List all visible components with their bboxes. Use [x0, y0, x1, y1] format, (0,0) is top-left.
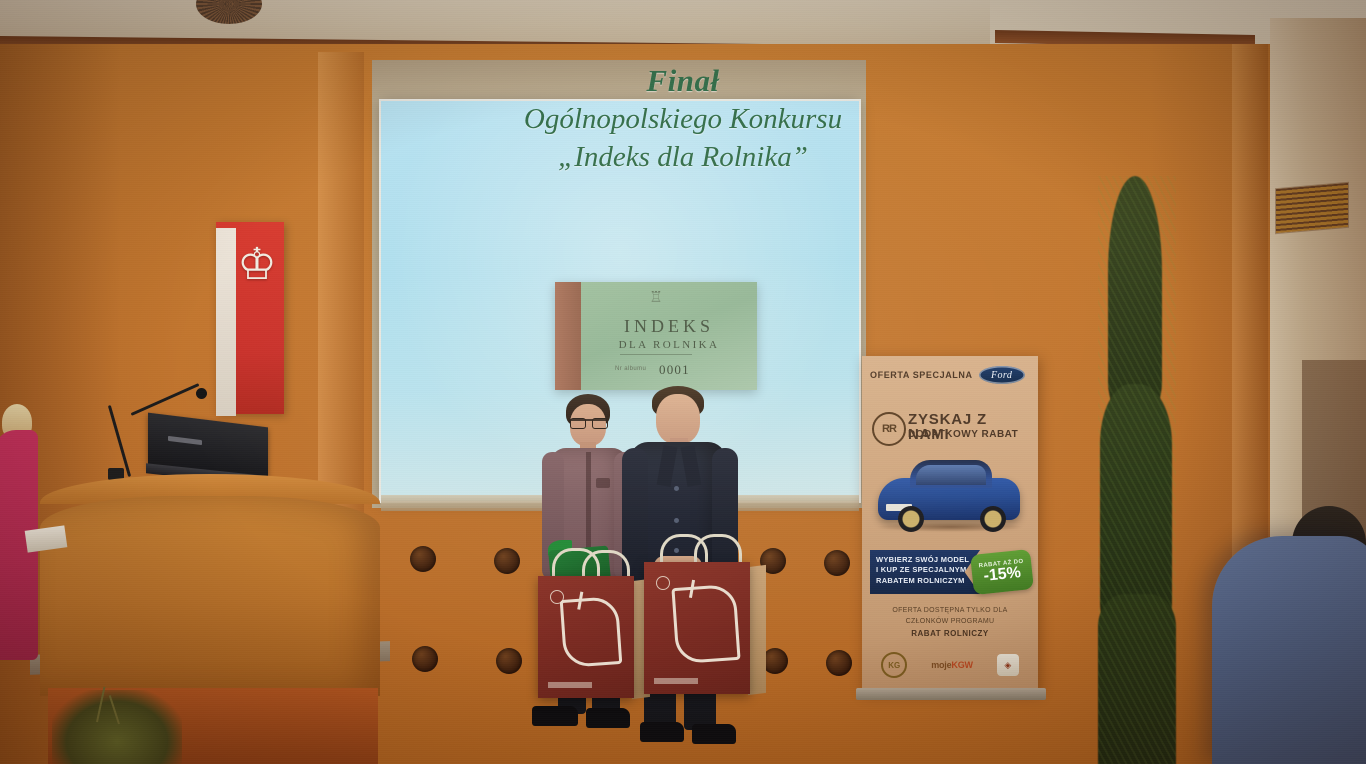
book-number-label: Nr albumu: [615, 366, 646, 372]
partner-logo-mojekgw: mojeKGW: [931, 660, 973, 670]
wall-medallion: [494, 548, 520, 574]
book-rule: [620, 354, 692, 355]
ceremony-photo: Finał Ogólnopolskiego Konkursu „Indeks d…: [0, 0, 1366, 764]
shoe-left: [640, 722, 684, 742]
footnote-bold: RABAT ROLNICZY: [911, 629, 989, 638]
banner-blue-bar: WYBIERZ SWÓJ MODEL I KUP ZE SPECJALNYM R…: [870, 550, 980, 594]
mojekgw-prefix: moje: [931, 660, 951, 670]
blue-ford-focus-hatchback: [874, 452, 1026, 538]
bag-footer-mark: [548, 682, 592, 688]
topiary-thuja-tree: [1098, 176, 1176, 764]
book-title: INDEKS: [581, 316, 757, 337]
footnote-line-1: OFERTA DOSTĘPNA TYLKO DLA: [862, 606, 1038, 617]
award-gift-bag: [538, 576, 634, 698]
car-wheel-rear: [980, 506, 1006, 532]
bag-monogram-icon: [671, 584, 740, 664]
car-windows: [916, 465, 986, 485]
car-wheel-front: [898, 506, 924, 532]
rr-badge-text: RR: [882, 423, 896, 435]
wall-medallion: [824, 550, 850, 576]
slide-title-block: Finał Ogólnopolskiego Konkursu „Indeks d…: [0, 64, 1366, 176]
bag-crest-icon: [656, 576, 670, 590]
banner-partner-logos: KG mojeKGW ◈: [862, 652, 1038, 678]
wall-vent-grille-icon: [1276, 183, 1348, 233]
mojekgw-accent: KGW: [951, 660, 972, 670]
banner-stand-base: [856, 688, 1046, 700]
shoe-left: [532, 706, 578, 726]
partner-logo-square: ◈: [997, 654, 1019, 676]
book-subtitle: DLA ROLNIKA: [581, 339, 757, 351]
bag-front-panel: [538, 576, 634, 698]
book-number: 0001: [659, 362, 690, 378]
slide-line-2: Ogólnopolskiego Konkursu: [0, 101, 1366, 138]
gooseneck-microphone-icon: [196, 388, 207, 399]
bag-side-panel: [748, 565, 766, 695]
white-eagle-icon: ♔: [234, 240, 280, 296]
ford-logo-icon: Ford: [979, 366, 1025, 384]
partner-logo-circle: KG: [881, 652, 907, 678]
jacket-button: [674, 518, 679, 523]
flag-white-strip: [216, 228, 236, 416]
face: [656, 394, 700, 444]
thuja-base: [1098, 594, 1176, 764]
shoe-right: [692, 724, 736, 744]
thuja-crown: [1108, 176, 1162, 416]
banner-offer-label: OFERTA SPECJALNA: [870, 370, 973, 380]
speaker-lectern: [40, 496, 380, 696]
discount-badge: RABAT AŻ DO -15%: [970, 549, 1034, 595]
shoe-right: [586, 708, 630, 728]
blue-bar-line-1: WYBIERZ SWÓJ MODEL: [876, 555, 974, 565]
jacket-button: [674, 486, 679, 491]
slide-line-3: „Indeks dla Rolnika”: [0, 139, 1366, 176]
award-gift-bag: [644, 562, 750, 694]
discount-badge-value: -15%: [983, 565, 1022, 585]
book-spine: [555, 282, 581, 390]
banner-footnote: OFERTA DOSTĘPNA TYLKO DLA CZŁONKÓW PROGR…: [862, 606, 1038, 641]
wall-medallion: [496, 648, 522, 674]
index-book-image: ♖ INDEKS DLA ROLNIKA Nr albumu 0001: [555, 282, 757, 390]
foreground-attendee-right: [1212, 536, 1366, 764]
banner-subheadline: DODATKOWY RABAT: [908, 429, 1032, 440]
bag-footer-mark: [654, 678, 698, 684]
rr-badge-icon: RR: [872, 412, 906, 446]
wall-medallion: [826, 650, 852, 676]
bag-monogram-icon: [560, 596, 623, 668]
glasses-bridge: [569, 419, 607, 429]
banner-top-row: OFERTA SPECJALNA Ford: [870, 366, 1030, 384]
wall-medallion: [412, 646, 438, 672]
blue-bar-line-3: RABATEM ROLNICZYM: [876, 576, 974, 586]
blue-bar-line-2: I KUP ZE SPECJALNYM: [876, 565, 974, 575]
footnote-line-2: CZŁONKÓW PROGRAMU: [862, 617, 1038, 628]
ford-rollup-banner: OFERTA SPECJALNA Ford RR ZYSKAJ Z NAMI D…: [862, 356, 1038, 692]
slide-line-1: Finał: [0, 64, 1366, 97]
small-plant: [52, 690, 182, 764]
ford-wordmark: Ford: [991, 370, 1012, 381]
bag-front-panel: [644, 562, 750, 694]
shirt-pocket: [596, 478, 610, 488]
wall-medallion: [410, 546, 436, 572]
eagle-crest-icon: ♖: [649, 290, 662, 305]
